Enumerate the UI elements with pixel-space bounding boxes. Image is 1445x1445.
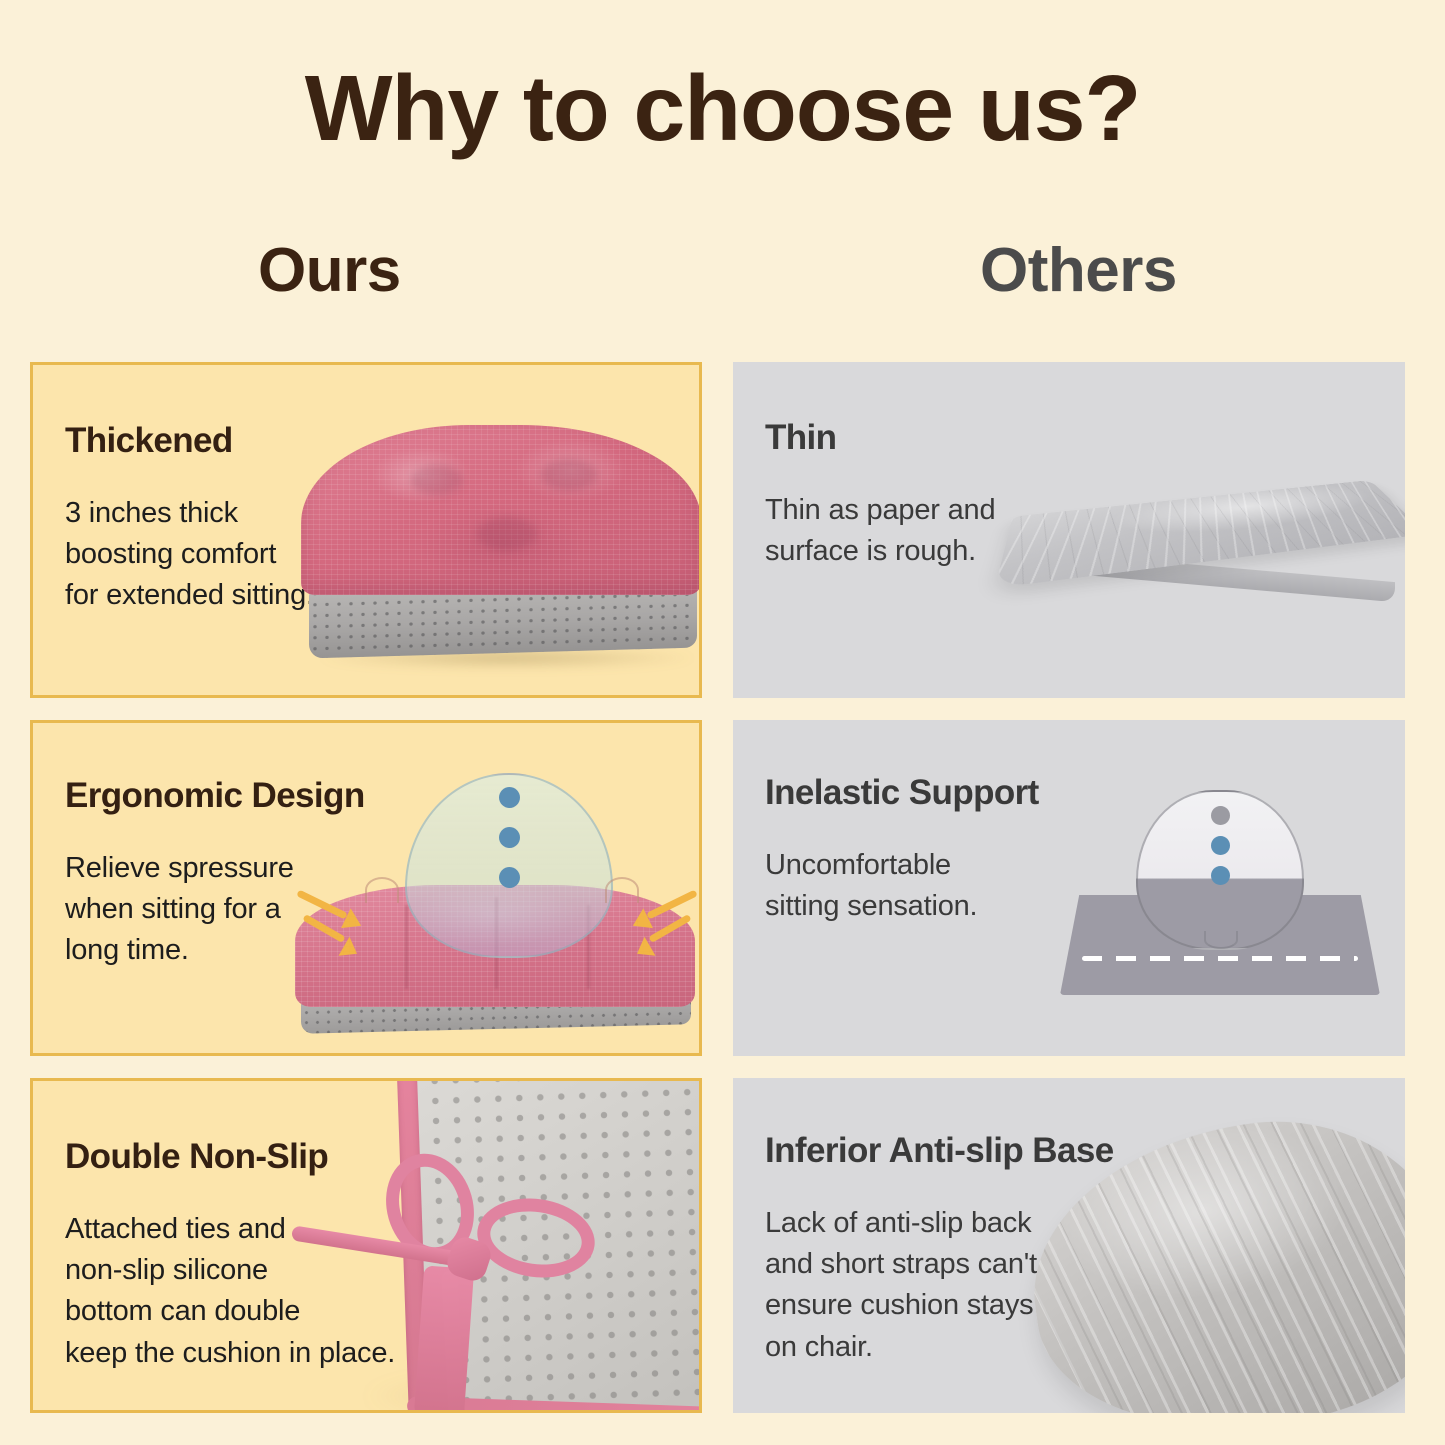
column-header-ours: Ours — [258, 240, 401, 302]
ours-card-thickened-body: 3 inches thick boosting comfort for exte… — [65, 493, 314, 617]
spine-dot-icon — [499, 867, 520, 888]
ours-card-ergonomic-design-title: Ergonomic Design — [65, 778, 365, 813]
body-silhouette-icon — [1136, 790, 1304, 950]
ours-card-double-non-slip: Double Non-Slip Attached ties and non-sl… — [30, 1078, 702, 1413]
page-title: Why to choose us? — [0, 62, 1445, 155]
inelastic-grey-cushion-diagram — [1060, 790, 1380, 995]
spine-dot-icon — [1211, 836, 1230, 855]
body-silhouette-icon — [405, 773, 613, 958]
ours-card-thickened: Thickened 3 inches thick boosting comfor… — [30, 362, 702, 698]
others-card-inelastic-support: Inelastic Support Uncomfortable sitting … — [733, 720, 1405, 1056]
others-card-inferior-anti-slip-base-body: Lack of anti-slip back and short straps … — [765, 1203, 1037, 1368]
spine-dot-icon — [499, 827, 520, 848]
dashed-line-icon — [1082, 956, 1358, 961]
ours-card-double-non-slip-title: Double Non-Slip — [65, 1139, 328, 1174]
others-card-thin-body: Thin as paper and surface is rough. — [765, 490, 995, 572]
others-card-inelastic-support-title: Inelastic Support — [765, 775, 1039, 810]
others-card-inelastic-support-body: Uncomfortable sitting sensation. — [765, 845, 977, 927]
others-card-inferior-anti-slip-base-title: Inferior Anti-slip Base — [765, 1133, 1114, 1168]
ours-card-double-non-slip-body: Attached ties and non-slip silicone bott… — [65, 1209, 395, 1374]
ours-card-ergonomic-design: Ergonomic Design Relieve spressure when … — [30, 720, 702, 1056]
spine-dot-icon — [1211, 806, 1230, 825]
others-card-inferior-anti-slip-base: Inferior Anti-slip Base Lack of anti-sli… — [733, 1078, 1405, 1413]
thick-pink-cushion-photo — [291, 425, 702, 675]
others-card-thin: Thin Thin as paper and surface is rough. — [733, 362, 1405, 698]
comparison-grid: Thickened 3 inches thick boosting comfor… — [30, 362, 1415, 1413]
others-card-thin-title: Thin — [765, 420, 836, 455]
spine-dot-icon — [1211, 866, 1230, 885]
ours-card-thickened-title: Thickened — [65, 423, 233, 458]
thin-grey-pad-photo — [1015, 454, 1405, 619]
ours-card-ergonomic-design-body: Relieve spressure when sitting for a lon… — [65, 848, 294, 972]
column-header-others: Others — [980, 240, 1177, 302]
spine-dot-icon — [499, 787, 520, 808]
